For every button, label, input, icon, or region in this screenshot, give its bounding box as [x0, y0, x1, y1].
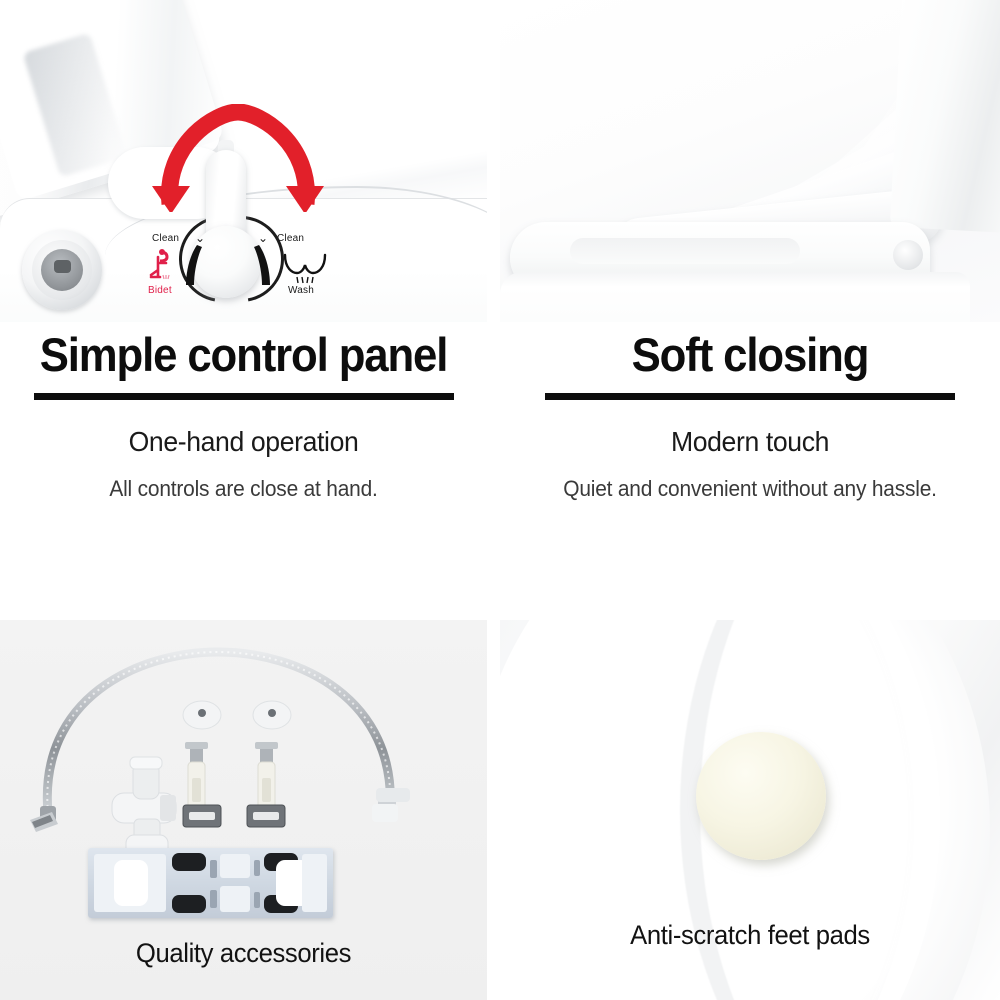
label-clean-right: Clean [277, 233, 304, 244]
bidet-icon [146, 248, 174, 284]
accessories-photo: Quality accessories [0, 620, 487, 1000]
spray-left-icon [180, 243, 204, 289]
feature-description-right: Quiet and convenient without any hassle. [513, 476, 988, 502]
seat-rear-housing [890, 0, 1000, 233]
rotation-arrow-icon [148, 104, 328, 212]
wash-icon [282, 252, 328, 286]
accessories-caption: Quality accessories [12, 938, 475, 969]
feature-title-left: Simple control panel [17, 330, 470, 379]
t-valve-icon [108, 745, 186, 865]
washer-plate-1-icon [182, 804, 222, 828]
label-bidet: Bidet [148, 285, 172, 296]
side-knob[interactable] [22, 230, 102, 310]
feet-pad [696, 732, 826, 860]
control-panel-photo: Clean ⌄ Bidet Clean ⌄ Wash [0, 0, 487, 322]
feature-title-right: Soft closing [518, 330, 983, 379]
seat-hinge [893, 240, 923, 270]
soft-closing-photo [500, 0, 1000, 322]
feature-description-left: All controls are close at hand. [12, 476, 475, 502]
feature-text-right: Soft closing Modern touch Quiet and conv… [500, 330, 1000, 502]
feature-subtitle-left: One-hand operation [12, 426, 475, 458]
spray-right-icon [252, 243, 276, 289]
seat-opening [570, 238, 800, 264]
side-knob-ring [32, 240, 92, 300]
nozzle-cap-2-icon [252, 698, 292, 732]
feature-text-left: Simple control panel One-hand operation … [0, 330, 487, 502]
toilet-bowl-base [500, 272, 970, 322]
feature-subtitle-right: Modern touch [513, 426, 988, 458]
title-underline-left [34, 393, 454, 400]
mounting-plate [88, 848, 333, 918]
feet-pads-caption: Anti-scratch feet pads [513, 920, 988, 951]
title-underline-right [545, 393, 955, 400]
label-clean-left: Clean [152, 233, 179, 244]
side-knob-core [54, 260, 71, 273]
nozzle-cap-1-icon [182, 698, 222, 732]
side-knob-inner [41, 249, 83, 291]
washer-plate-2-icon [246, 804, 286, 828]
feet-pads-photo: Anti-scratch feet pads [500, 620, 1000, 1000]
feature-grid: Clean ⌄ Bidet Clean ⌄ Wash [0, 0, 1000, 1000]
label-wash: Wash [288, 285, 314, 296]
